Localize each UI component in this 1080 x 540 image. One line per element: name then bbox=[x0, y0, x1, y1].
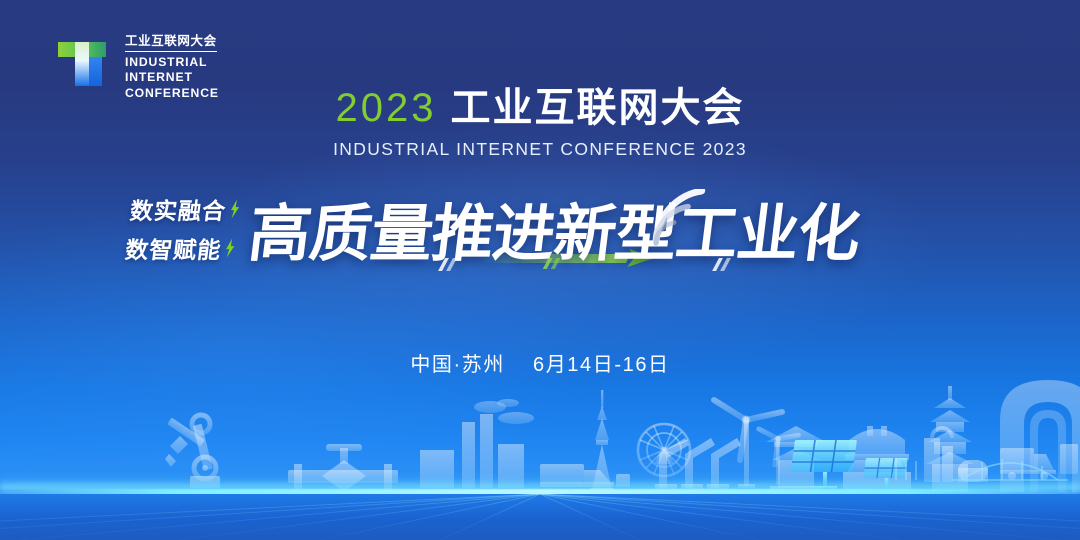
logo-chinese-name: 工业互联网大会 bbox=[125, 30, 217, 52]
title-chinese: 工业互联网大会 bbox=[450, 86, 744, 130]
lightning-bolt-icon bbox=[228, 199, 241, 218]
slogan-secondary-line-2: 数智赋能 bbox=[124, 231, 238, 265]
slogan-secondary: 数实融合 数智赋能 bbox=[124, 192, 243, 265]
title-block: 2023工业互联网大会 INDUSTRIAL INTERNET CONFEREN… bbox=[0, 88, 1080, 160]
slogan-line2-text: 数智赋能 bbox=[124, 231, 224, 265]
slogan-secondary-line-1: 数实融合 bbox=[128, 192, 242, 226]
slogan-block: 数实融合 数智赋能 高质量推进 新型工业化 bbox=[128, 182, 860, 274]
skyline-bridge-layer bbox=[0, 362, 1080, 492]
title-year: 2023 bbox=[336, 86, 437, 130]
slogan-headline: 高质量推进 新型工业化 bbox=[244, 183, 865, 273]
lightning-bolt-icon bbox=[223, 238, 236, 257]
perspective-grid bbox=[0, 494, 1080, 540]
logo-en-line-2: INTERNET bbox=[125, 70, 219, 85]
wifi-signal-icon bbox=[648, 189, 719, 247]
headline-part-1: 高质量推进 bbox=[244, 183, 560, 273]
main-title: 2023工业互联网大会 bbox=[0, 88, 1080, 128]
conference-poster: 工业互联网大会 INDUSTRIAL INTERNET CONFERENCE 2… bbox=[0, 0, 1080, 540]
antenna-mast-icon bbox=[896, 458, 916, 480]
subtitle-english: INDUSTRIAL INTERNET CONFERENCE 2023 bbox=[0, 139, 1080, 160]
logo-en-line-1: INDUSTRIAL bbox=[125, 55, 219, 70]
slogan-line1-text: 数实融合 bbox=[128, 192, 228, 226]
bridge-icon bbox=[952, 459, 1068, 480]
